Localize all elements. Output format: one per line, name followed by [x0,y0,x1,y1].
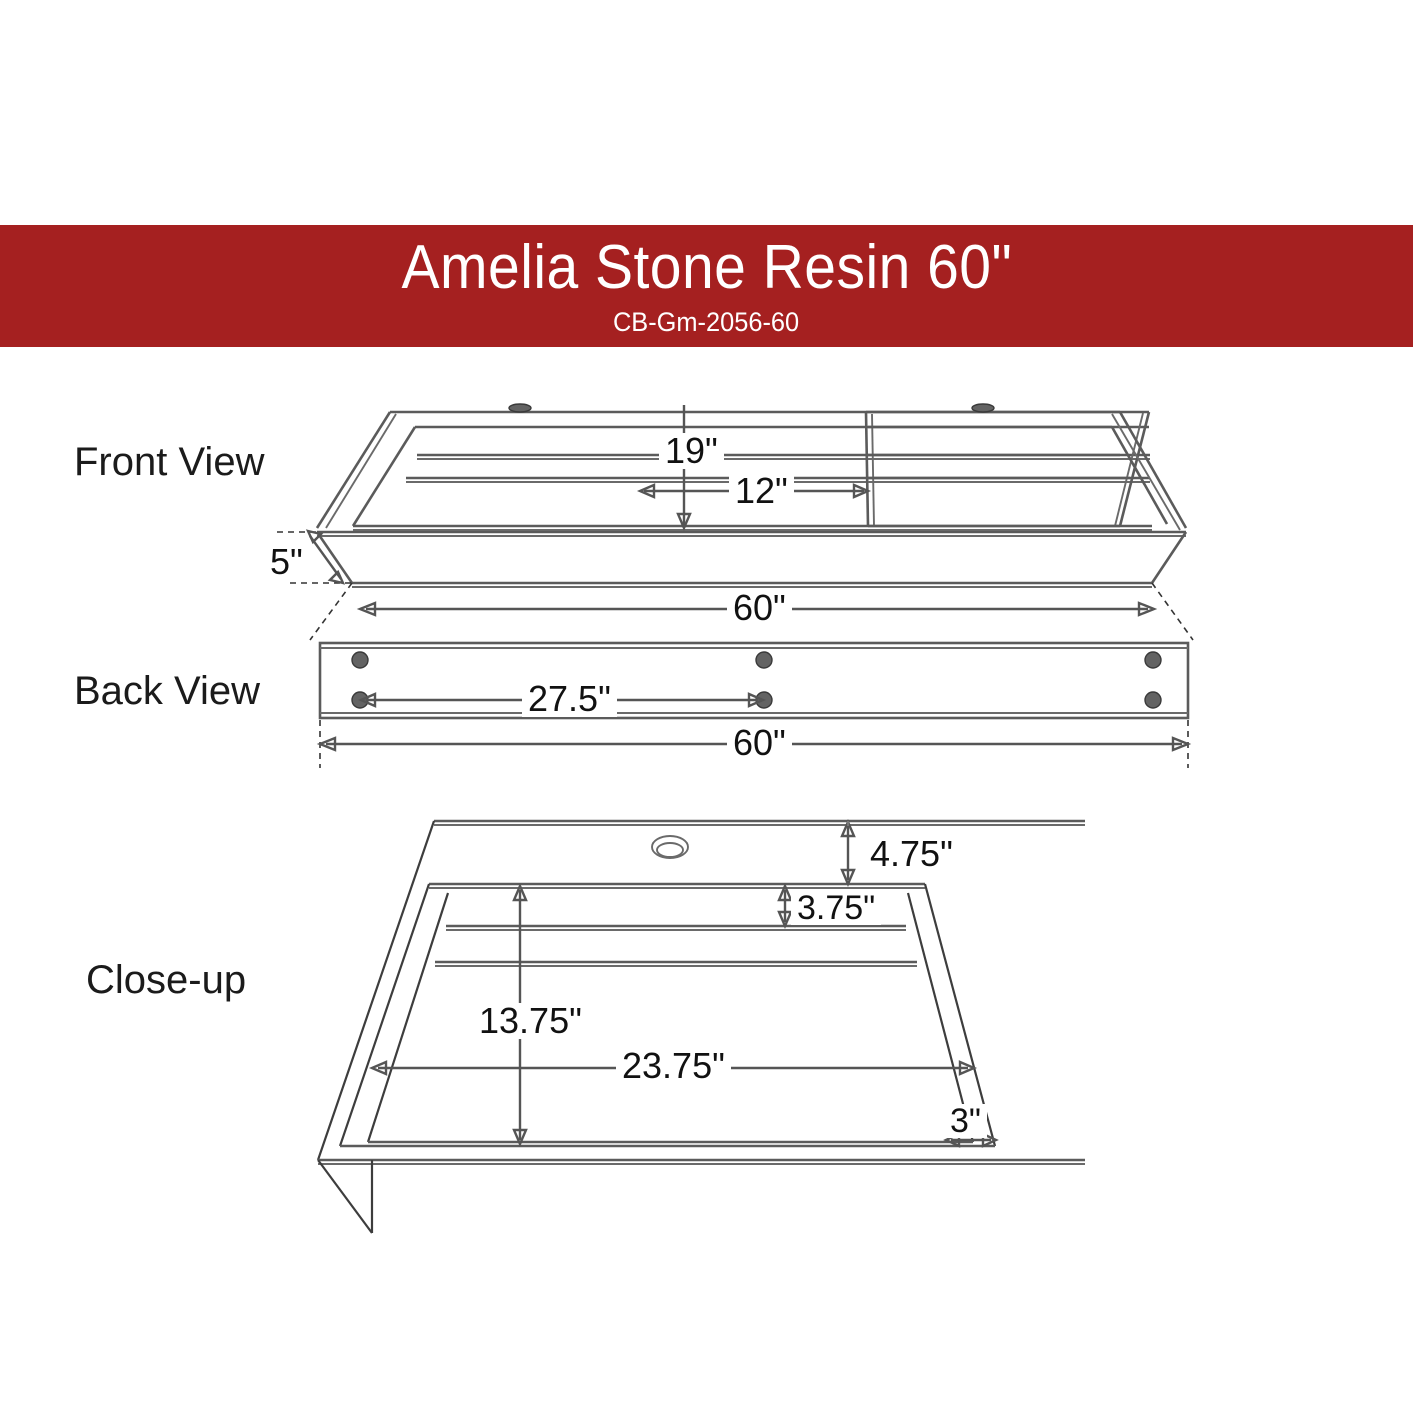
mount-hole-icon [1145,692,1161,708]
dim-label-19in: 19" [659,433,724,469]
drain-hole-icon [652,836,688,858]
dim-label-13-75in: 13.75" [473,1003,588,1039]
dimension-3-75in [779,886,791,926]
front-view-basin-right [866,404,1186,530]
dimension-4-75in [842,821,854,884]
faucet-hole-icon [509,404,531,412]
dim-label-3in: 3" [944,1104,987,1138]
mount-hole-icon [1145,652,1161,668]
close-up-drawing [318,821,1085,1233]
technical-drawing [0,0,1413,1413]
mount-hole-icon [756,652,772,668]
dim-label-60in-back: 60" [727,725,792,761]
dim-label-4-75in: 4.75" [864,836,959,872]
dim-label-23-75in: 23.75" [616,1048,731,1084]
spec-sheet-canvas: Amelia Stone Resin 60" CB-Gm-2056-60 Fro… [0,0,1413,1413]
mount-hole-icon [352,652,368,668]
front-view-body [317,532,1186,587]
dim-label-60in-front: 60" [727,590,792,626]
dim-label-5in: 5" [264,544,309,580]
dim-label-27-5in: 27.5" [522,681,617,717]
faucet-hole-icon [972,404,994,412]
front-view-basin-left [317,404,1150,530]
dim-label-3-75in: 3.75" [791,891,881,925]
dim-label-12in: 12" [729,473,794,509]
